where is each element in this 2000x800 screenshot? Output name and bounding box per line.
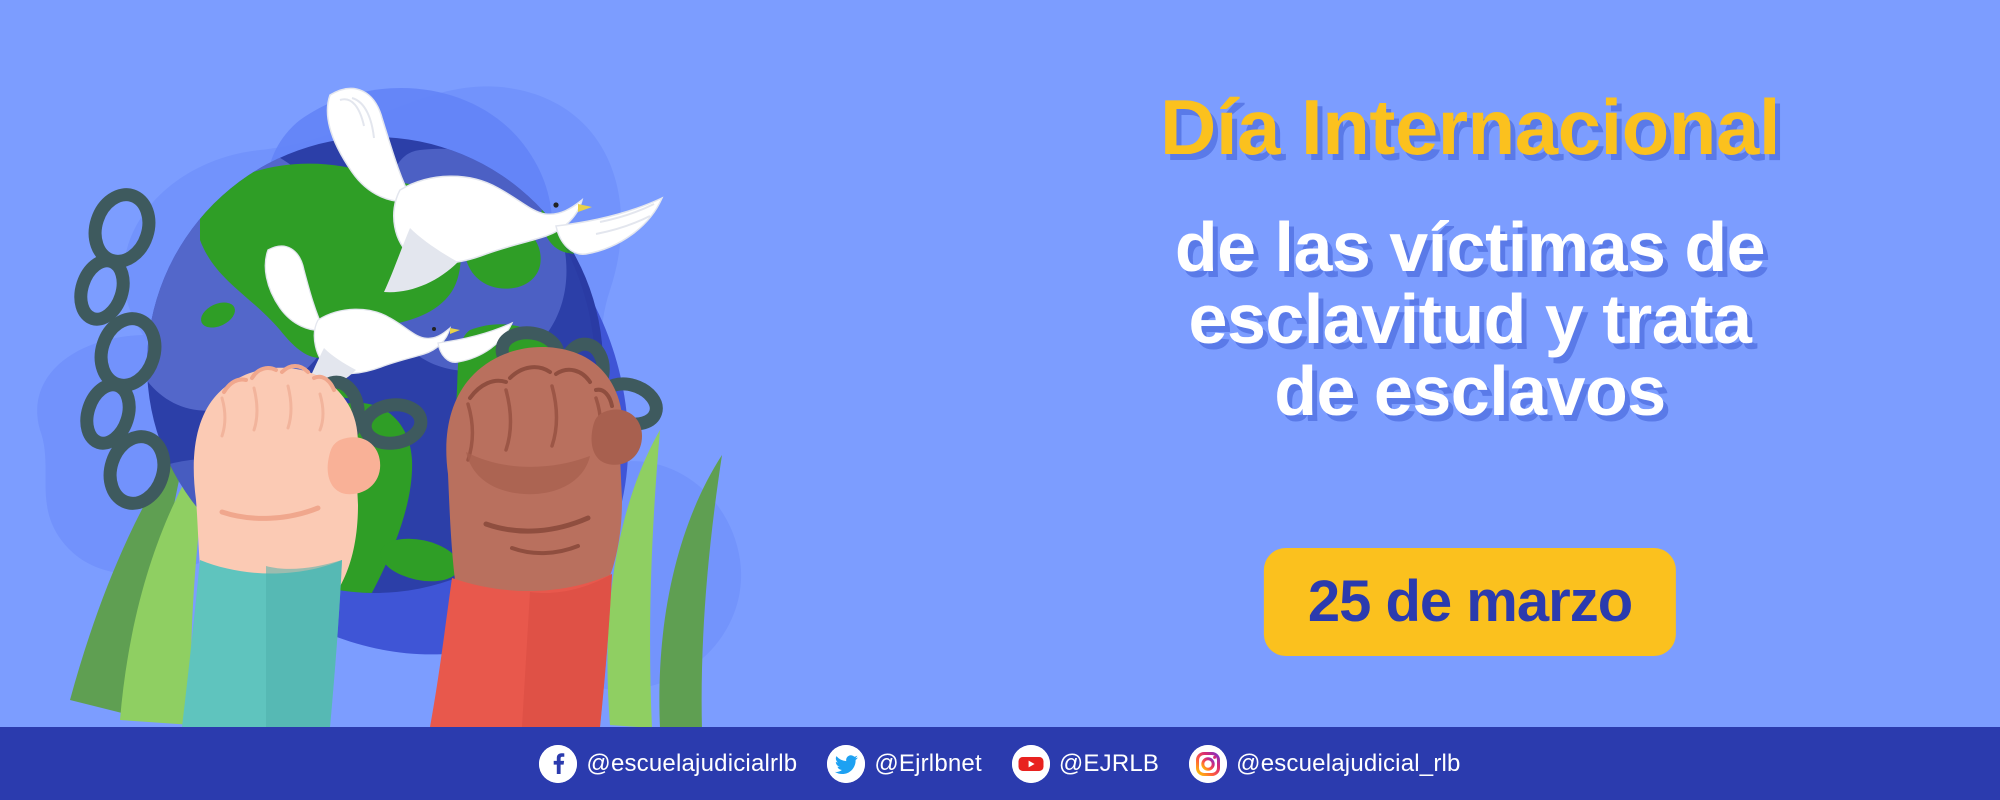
twitter-handle: @Ejrlbnet bbox=[874, 750, 982, 778]
date-badge-label: 25 de marzo bbox=[1308, 573, 1632, 631]
facebook-handle: @escuelajudicialrlb bbox=[586, 750, 797, 778]
twitter-icon[interactable] bbox=[827, 745, 865, 783]
youtube-handle: @EJRLB bbox=[1059, 750, 1159, 778]
page-title: Día Internacional bbox=[1000, 88, 1940, 166]
banner-root: Día Internacional de las víctimas de esc… bbox=[0, 0, 2000, 800]
date-badge: 25 de marzo bbox=[1264, 548, 1676, 656]
facebook-icon[interactable] bbox=[539, 745, 577, 783]
instagram-icon[interactable] bbox=[1189, 745, 1227, 783]
subtitle-line-1: de las víctimas de bbox=[1000, 212, 1940, 282]
text-column: Día Internacional de las víctimas de esc… bbox=[1000, 0, 1940, 727]
social-item-twitter[interactable]: @Ejrlbnet bbox=[827, 745, 982, 783]
subtitle-line-2: esclavitud y trata bbox=[1000, 284, 1940, 354]
social-footer-bar: @escuelajudicialrlb @Ejrlbnet @EJRLB bbox=[0, 727, 2000, 800]
subtitle-line-3: de esclavos bbox=[1000, 356, 1940, 426]
youtube-icon[interactable] bbox=[1012, 745, 1050, 783]
social-item-facebook[interactable]: @escuelajudicialrlb bbox=[539, 745, 797, 783]
social-item-youtube[interactable]: @EJRLB bbox=[1012, 745, 1159, 783]
instagram-handle: @escuelajudicial_rlb bbox=[1236, 750, 1460, 778]
illustration-globe-chained-fists bbox=[0, 0, 900, 800]
social-item-instagram[interactable]: @escuelajudicial_rlb bbox=[1189, 745, 1460, 783]
